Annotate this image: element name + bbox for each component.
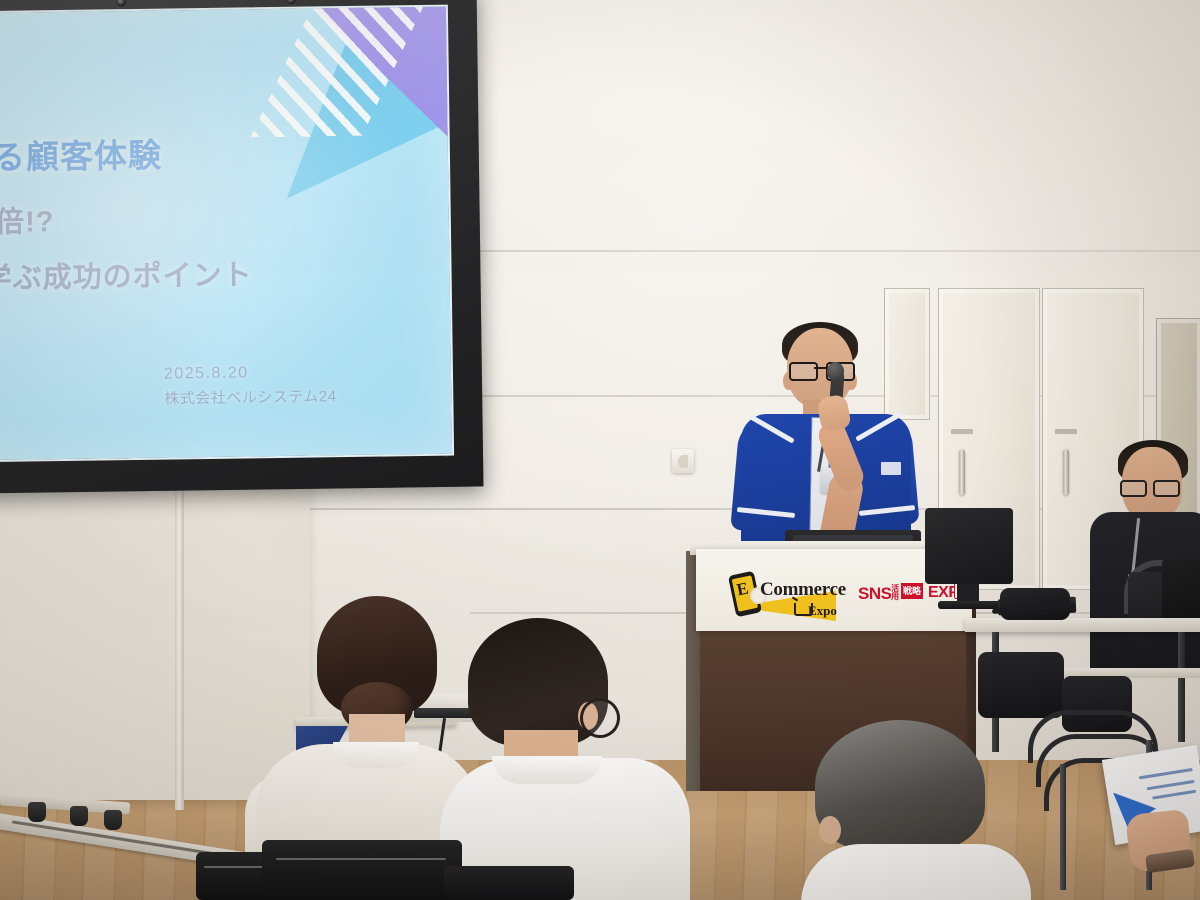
slide-title-line-2: 入率1.5倍!? xyxy=(0,193,412,242)
logo-word-sns: SNS xyxy=(858,584,891,604)
audience-collar xyxy=(492,756,602,784)
chair-backrest[interactable] xyxy=(262,840,462,900)
audience-member-man xyxy=(440,618,680,900)
audience-member-grey xyxy=(795,720,1035,900)
chair-leg xyxy=(1060,764,1066,890)
monitor-base xyxy=(938,601,1000,609)
audience-shirt xyxy=(801,844,1031,900)
door-plate xyxy=(951,429,973,434)
slide-title-line-3: 例から学ぶ成功のポイント xyxy=(0,249,413,298)
presenter xyxy=(735,322,915,562)
chair-backrest[interactable] xyxy=(444,866,574,900)
handout-text-line xyxy=(1147,780,1195,790)
audience-collar xyxy=(333,742,419,768)
handout-text-line xyxy=(1139,768,1193,779)
ecommerce-expo-logo: E Commerce Expo xyxy=(732,571,852,623)
logo-kanji-senryaku: 戦略 xyxy=(901,583,923,599)
lens-right xyxy=(1153,480,1180,497)
jersey-logo xyxy=(881,462,901,475)
logo-word-expo: Expo xyxy=(808,603,837,619)
slide-company: 株式会社ベルシステム24 xyxy=(164,385,337,411)
glasses-icon xyxy=(1120,480,1176,494)
grommet-icon xyxy=(287,0,296,4)
glasses-bridge xyxy=(814,367,826,369)
door-handle[interactable] xyxy=(959,449,965,495)
logo-kanji-katsuyou: 活用 xyxy=(891,584,899,600)
wall-switch-icon[interactable] xyxy=(672,449,694,473)
caster-wheel-icon xyxy=(70,806,88,826)
caster-wheel-icon xyxy=(28,802,46,822)
slide-meta-block: 2025.8.20 株式会社ベルシステム24 xyxy=(164,360,337,410)
logo-word-commerce: Commerce xyxy=(760,579,846,601)
lens-left xyxy=(1120,480,1147,497)
slide-title-block: が変える顧客体験 入率1.5倍!? 例から学ぶ成功のポイント xyxy=(0,125,413,298)
door-plate xyxy=(1055,429,1077,434)
caster-wheel-icon xyxy=(104,810,122,830)
partition-edge xyxy=(175,470,184,810)
seminar-photo-scene: が変える顧客体験 入率1.5倍!? 例から学ぶ成功のポイント 2025.8.20… xyxy=(0,0,1200,900)
slide-title-line-1: が変える顧客体験 xyxy=(0,125,411,180)
monitor-iiyama: iiyama xyxy=(925,508,1013,584)
staff-table xyxy=(965,618,1200,632)
projected-slide: が変える顧客体験 入率1.5倍!? 例から学ぶ成功のポイント 2025.8.20… xyxy=(0,5,454,463)
lens-left xyxy=(789,362,818,381)
presenter-hand xyxy=(816,394,851,433)
grommet-icon xyxy=(117,0,126,6)
chair-highlight xyxy=(276,858,446,860)
handout-text-line xyxy=(1152,790,1196,800)
slide-date: 2025.8.20 xyxy=(164,360,337,387)
ear-icon xyxy=(819,816,841,844)
door-handle[interactable] xyxy=(1063,449,1069,495)
